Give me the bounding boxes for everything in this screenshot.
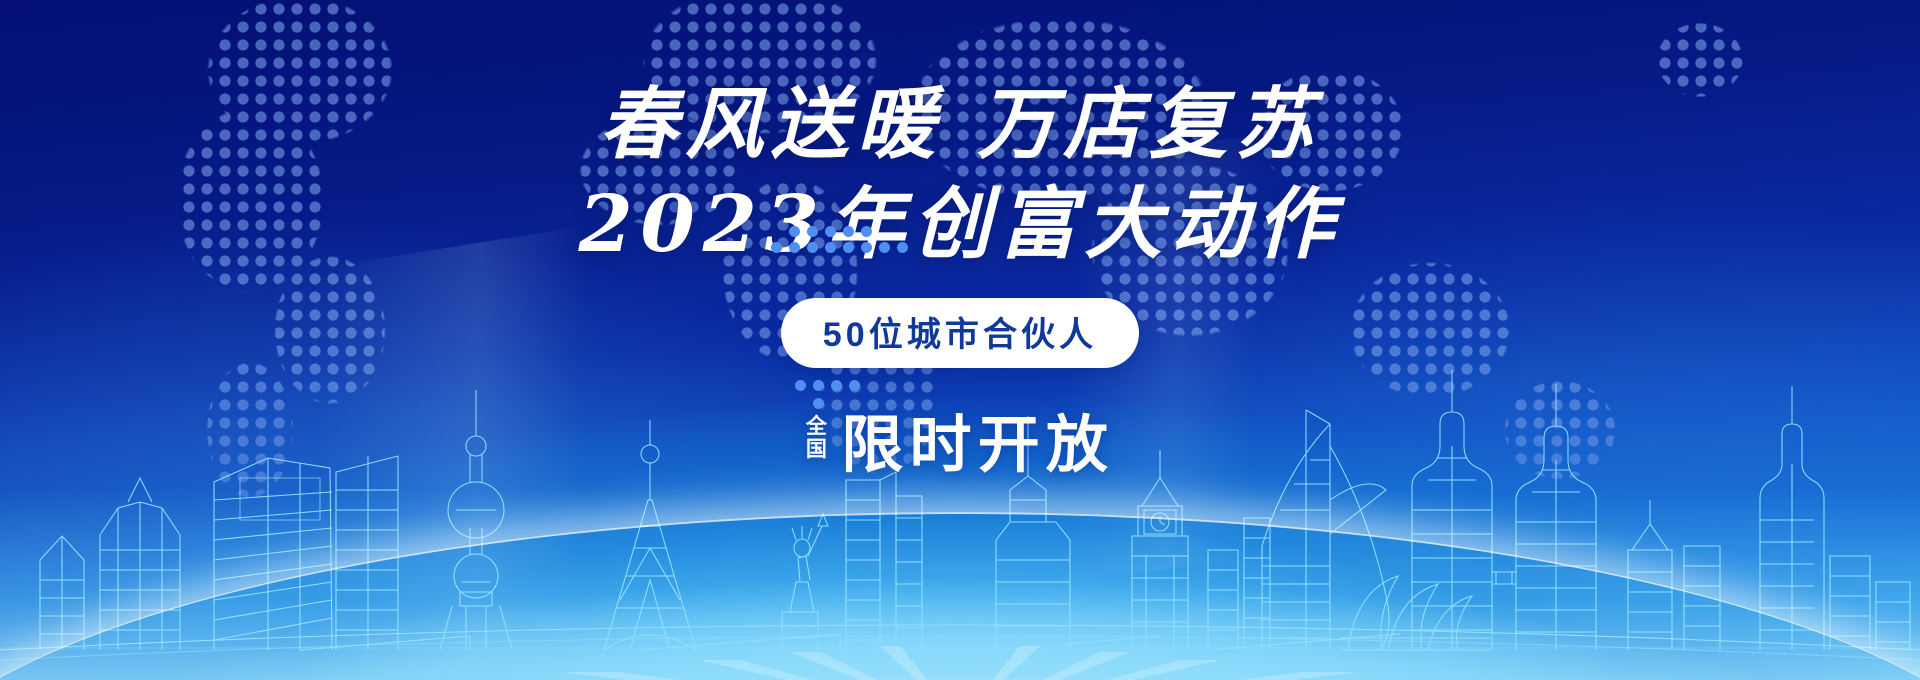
subtitle-row: 全 国 限时开放 bbox=[806, 394, 1114, 484]
city-partner-badge[interactable]: 50位城市合伙人 bbox=[781, 298, 1139, 368]
promo-banner: 春风送暖 万店复苏 2023年创富大动作 50位城市合伙人 bbox=[0, 0, 1920, 680]
nationwide-prefix-char-1: 全 bbox=[806, 416, 827, 439]
nationwide-prefix: 全 国 bbox=[806, 416, 827, 461]
nationwide-prefix-char-2: 国 bbox=[806, 439, 827, 462]
city-partner-badge-label: 50位城市合伙人 bbox=[823, 307, 1097, 356]
headline-line-2: 2023年创富大动作 bbox=[578, 186, 1341, 264]
banner-content: 春风送暖 万店复苏 2023年创富大动作 50位城市合伙人 bbox=[0, 0, 1920, 680]
limited-time-open-text: 限时开放 bbox=[841, 394, 1114, 484]
headline-line-1: 春风送暖 万店复苏 bbox=[599, 86, 1320, 164]
